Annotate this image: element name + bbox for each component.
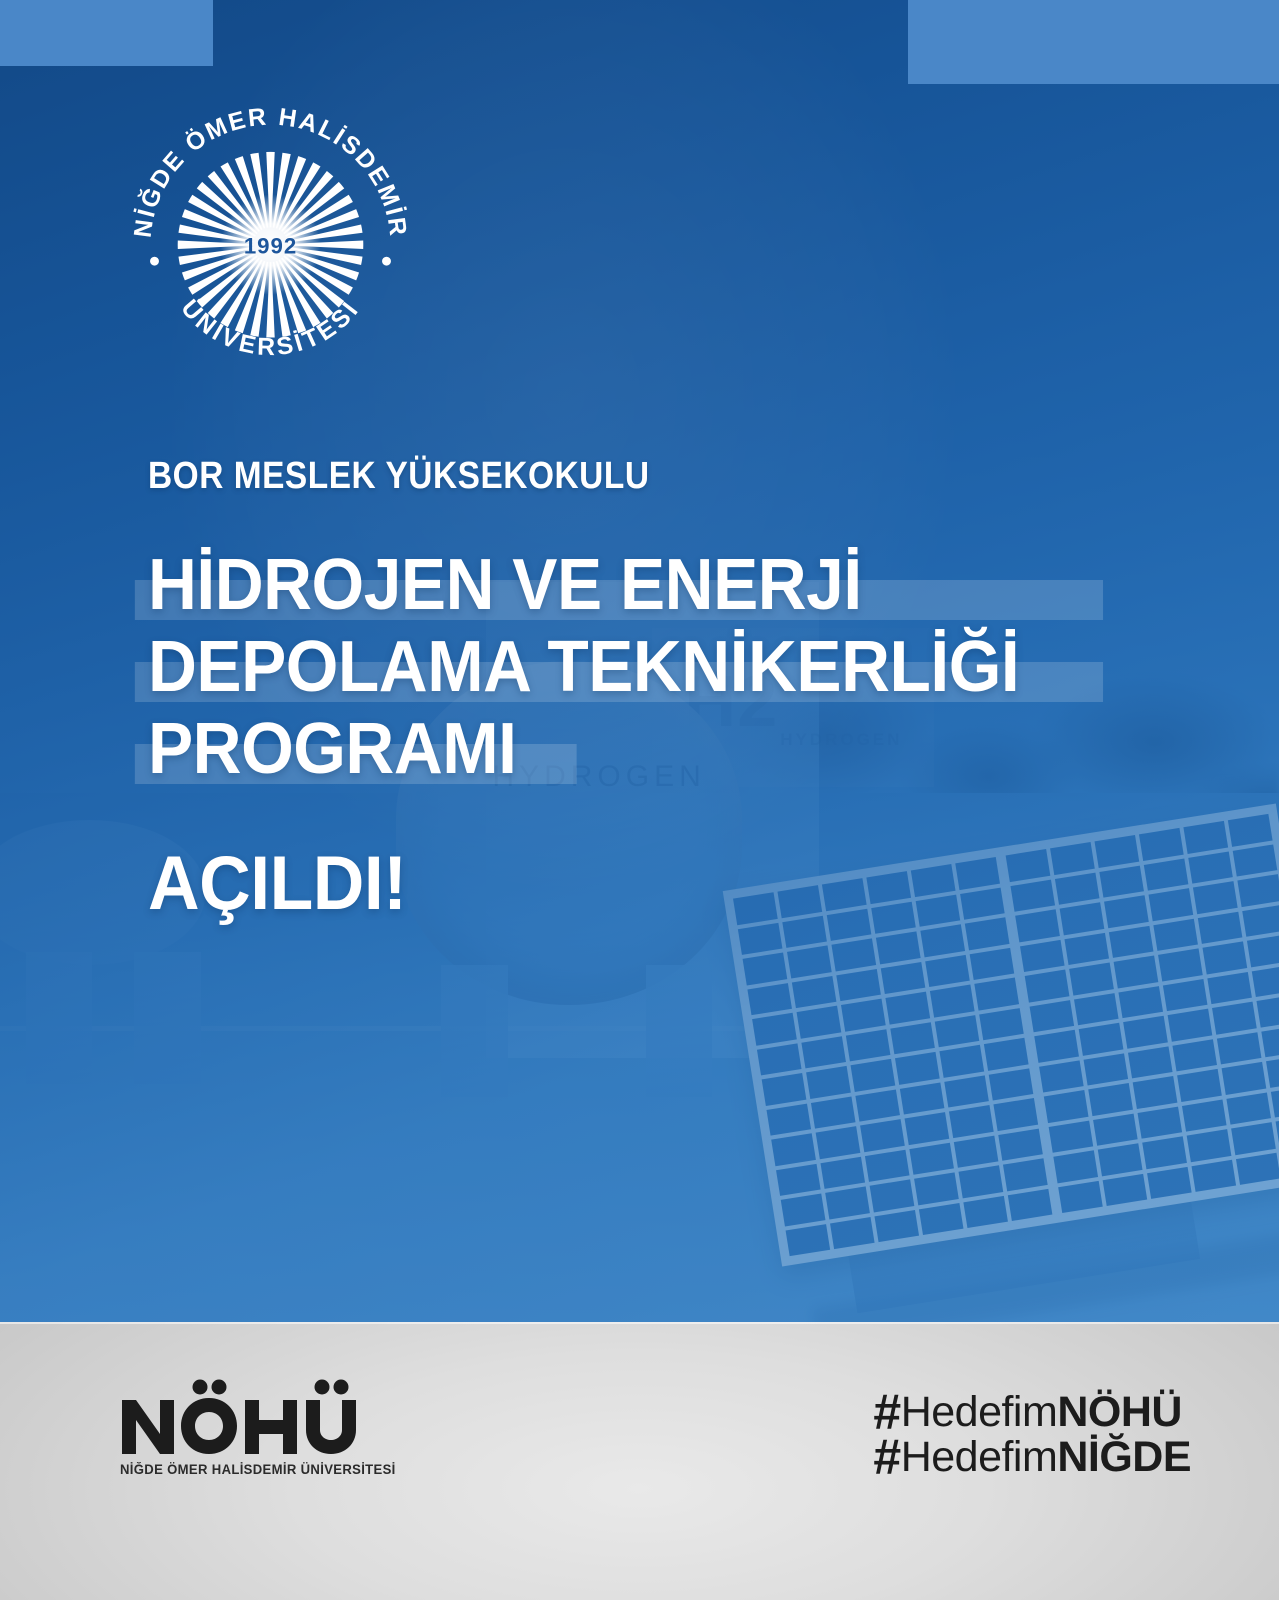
hashtag-line: #HedefimNİĞDE xyxy=(873,1435,1191,1480)
program-title: HİDROJEN VE ENERJİ DEPOLAMA TEKNİKERLİĞİ… xyxy=(148,544,1148,790)
title-line-2: DEPOLAMA TEKNİKERLİĞİ xyxy=(148,626,1088,708)
school-kicker: BOR MESLEK YÜKSEKOKULU xyxy=(148,455,1028,498)
announcement-text: AÇILDI! xyxy=(148,842,1088,926)
seal-year: 1992 xyxy=(244,233,297,258)
hashtag-line: #HedefimNÖHÜ xyxy=(873,1390,1191,1435)
corner-accent-right xyxy=(908,0,1279,84)
nohu-logo-subtitle: NİĞDE ÖMER HALİSDEMİR ÜNİVERSİTESİ xyxy=(120,1462,411,1477)
university-seal: NİĞDE ÖMER HALİSDEMİR ÜNİVERSİTESİ 1992 xyxy=(118,92,423,382)
title-line-2-text: DEPOLAMA TEKNİKERLİĞİ xyxy=(148,627,1019,707)
hashtag-bold: NİĞDE xyxy=(1057,1433,1191,1481)
hash-symbol: # xyxy=(873,1429,900,1485)
corner-accent-left xyxy=(0,0,213,66)
hashtag-block: #HedefimNÖHÜ #HedefimNİĞDE xyxy=(873,1390,1191,1480)
nohu-logo: NİĞDE ÖMER HALİSDEMİR ÜNİVERSİTESİ xyxy=(120,1378,420,1477)
hashtag-bold: NÖHÜ xyxy=(1057,1388,1182,1436)
title-line-1-text: HİDROJEN VE ENERJİ xyxy=(148,545,862,625)
poster-canvas: H2 HYDROGEN HYDROGEN xyxy=(0,0,1279,1600)
footer-divider xyxy=(0,1322,1279,1324)
headline-block: BOR MESLEK YÜKSEKOKULU HİDROJEN VE ENERJ… xyxy=(148,455,1148,926)
title-line-1: HİDROJEN VE ENERJİ xyxy=(148,544,1088,626)
hashtag-light: Hedefim xyxy=(901,1433,1058,1481)
nohu-wordmark-icon xyxy=(120,1378,362,1456)
hashtag-light: Hedefim xyxy=(901,1388,1058,1436)
title-line-3-text: PROGRAMI xyxy=(148,709,516,789)
title-line-3: PROGRAMI xyxy=(148,708,1088,790)
